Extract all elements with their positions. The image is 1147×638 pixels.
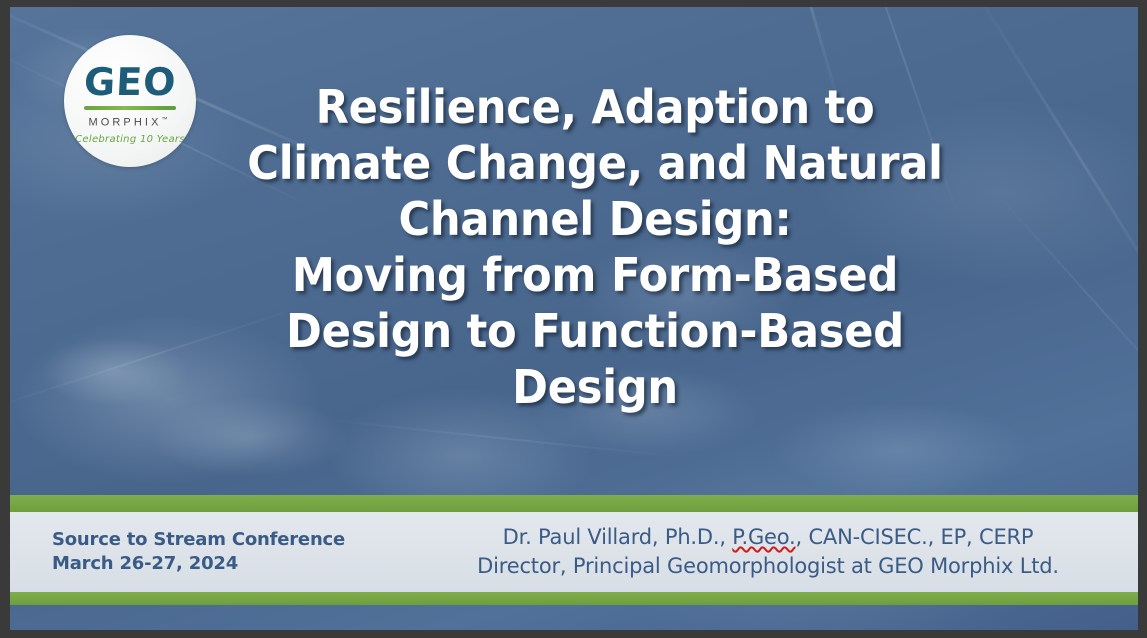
presenter-title: Director, Principal Geomorphologist at G… <box>420 552 1116 581</box>
title-line-4: Moving from Form-Based <box>186 247 1004 303</box>
slide-footer: Source to Stream Conference March 26-27,… <box>10 512 1138 592</box>
title-line-6: Design <box>186 359 1004 415</box>
logo-brand-name: MORPHIX™ <box>88 117 171 129</box>
conference-info: Source to Stream Conference March 26-27,… <box>10 528 420 576</box>
spellcheck-flagged-text[interactable]: P.Geo. <box>732 525 795 549</box>
logo-brand-mark: GEO <box>83 63 177 101</box>
presentation-slide: GEO MORPHIX™ Celebrating 10 Years Resili… <box>0 0 1147 638</box>
title-line-1: Resilience, Adaption to <box>186 79 1004 135</box>
title-line-3: Channel Design: <box>186 191 1004 247</box>
logo-brand-name-text: MORPHIX <box>88 117 161 129</box>
logo-tagline: Celebrating 10 Years <box>75 135 185 145</box>
accent-bar-top <box>10 495 1138 512</box>
trademark-symbol: ™ <box>162 117 168 123</box>
presenter-name-credentials: Dr. Paul Villard, Ph.D., P.Geo., CAN-CIS… <box>420 523 1116 552</box>
title-line-5: Design to Function-Based <box>186 303 1004 359</box>
conference-dates: March 26-27, 2024 <box>52 552 420 576</box>
slide-title: Resilience, Adaption to Climate Change, … <box>186 79 1004 415</box>
title-line-2: Climate Change, and Natural <box>186 135 1004 191</box>
presenter-credentials-rest: , CAN-CISEC., EP, CERP <box>796 525 1034 549</box>
conference-name: Source to Stream Conference <box>52 528 420 552</box>
presenter-info: Dr. Paul Villard, Ph.D., P.Geo., CAN-CIS… <box>420 523 1138 581</box>
geo-morphix-logo: GEO MORPHIX™ Celebrating 10 Years <box>64 35 196 167</box>
logo-green-underline-icon <box>84 106 176 110</box>
accent-bar-bottom <box>10 592 1138 605</box>
presenter-name: Dr. Paul Villard, Ph.D., <box>503 525 733 549</box>
